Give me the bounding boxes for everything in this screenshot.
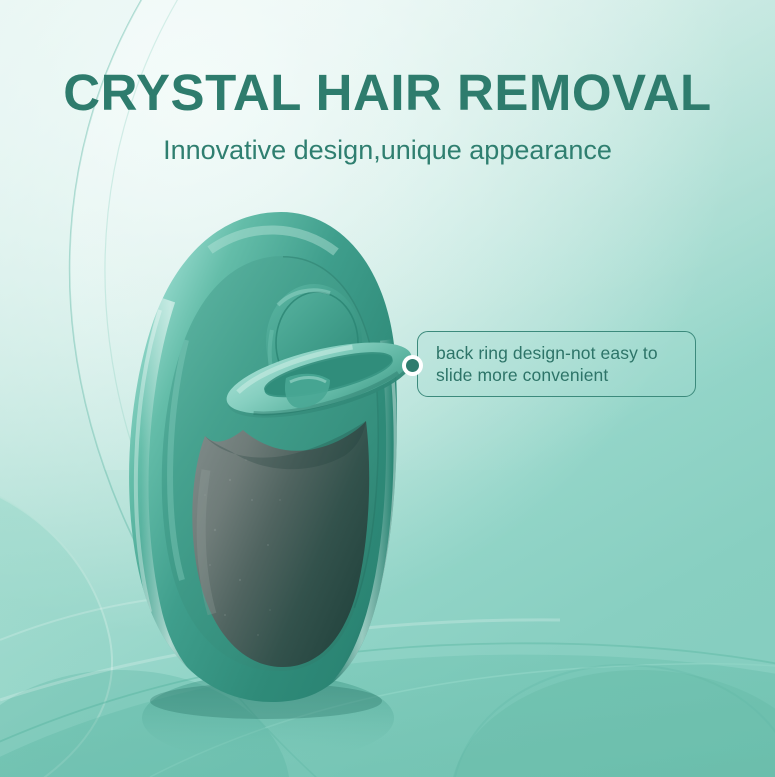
callout-connector-dot <box>402 355 423 376</box>
poster-canvas: CRYSTAL HAIR REMOVAL Innovative design,u… <box>0 0 775 777</box>
callout-box: back ring design-not easy to slide more … <box>417 331 696 397</box>
callout-line-1: back ring design-not easy to <box>436 342 683 364</box>
page-title: CRYSTAL HAIR REMOVAL <box>0 66 775 120</box>
page-subtitle: Innovative design,unique appearance <box>0 134 775 166</box>
callout-line-2: slide more convenient <box>436 364 683 386</box>
